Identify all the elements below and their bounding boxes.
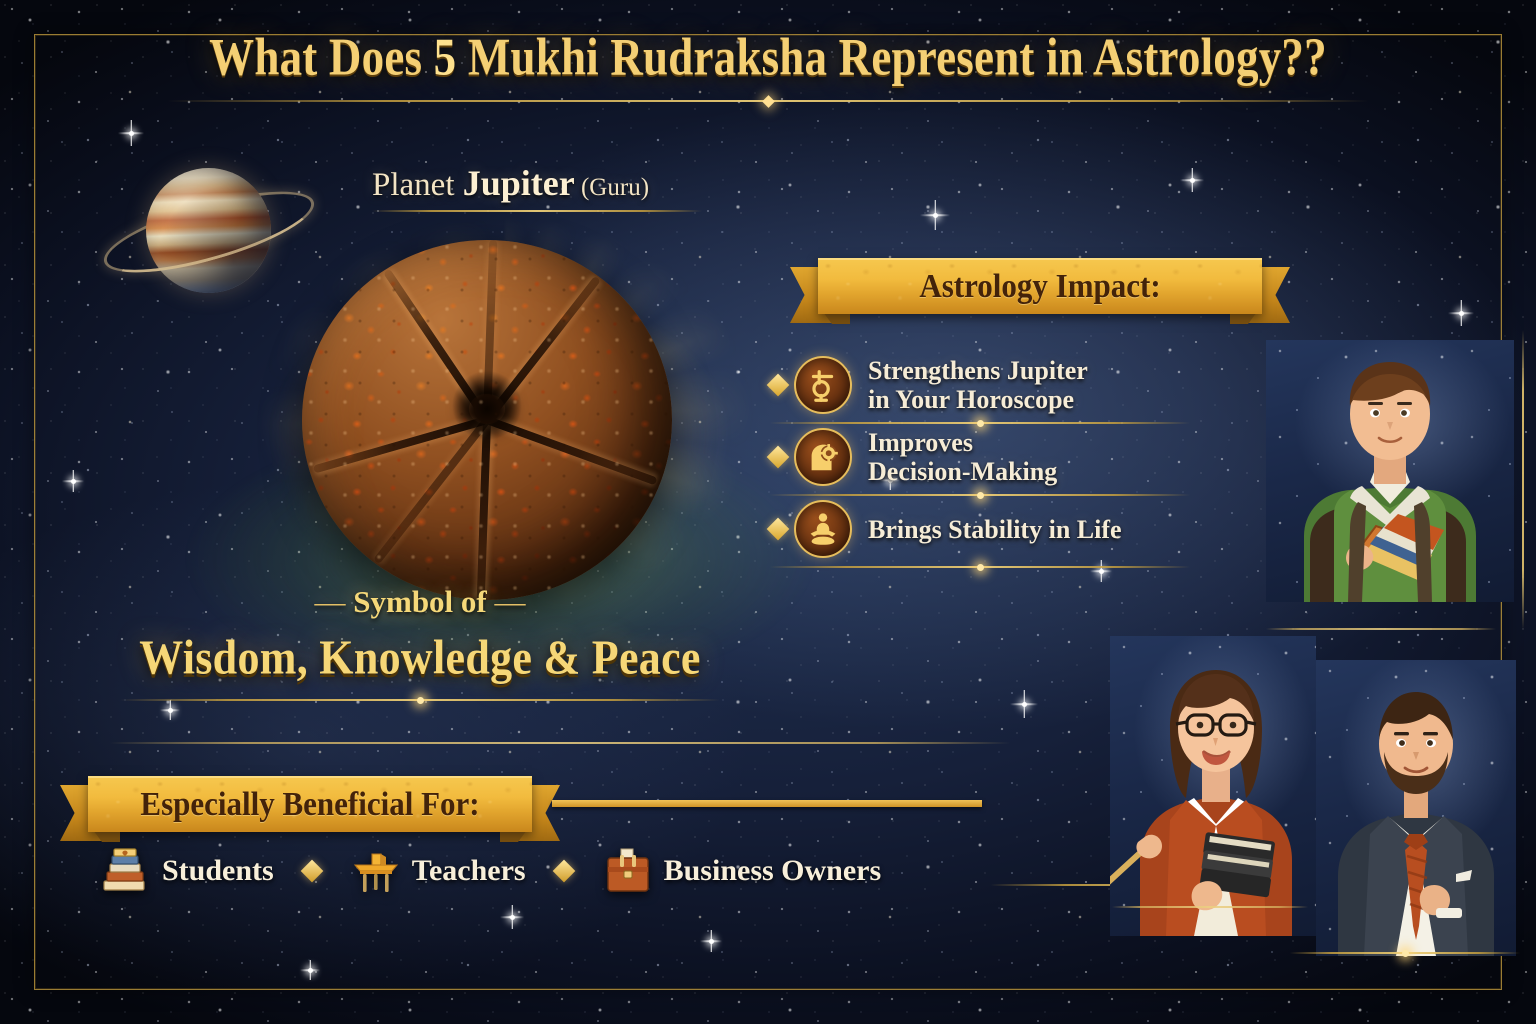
- infographic-canvas: What Does 5 Mukhi Rudraksha Represent in…: [0, 0, 1536, 1024]
- impact-item-line2: Decision-Making: [868, 457, 1057, 486]
- rudraksha-bead: [302, 240, 672, 600]
- star-sparkle: [700, 930, 722, 952]
- especially-beneficial-banner: Especially Beneficial For:: [60, 776, 560, 832]
- bullet-diamond-icon: [767, 446, 790, 469]
- head-gear-icon: [794, 428, 852, 486]
- title-middle: Mukhi Rudraksha Represent in Astrology?: [456, 27, 1304, 86]
- symbol-dash-left: —: [315, 584, 346, 619]
- symbol-divider: [120, 699, 720, 701]
- beneficiary-label: Teachers: [412, 854, 526, 888]
- separator-diamond-icon: [552, 860, 575, 883]
- teachers-photo: Teachers: [1110, 636, 1316, 936]
- planet-label-prefix: Planet: [372, 167, 463, 203]
- especially-beneficial-banner-label: Especially Beneficial For:: [140, 784, 479, 824]
- beneficiary-business-owners[interactable]: Business Owners: [602, 845, 882, 897]
- beneficiary-teachers[interactable]: Teachers: [350, 845, 526, 897]
- star-sparkle: [1448, 300, 1474, 326]
- impact-item-strengthens-jupiter[interactable]: Strengthens Jupiter in Your Horoscope: [770, 352, 1190, 418]
- symbol-of-block: — Symbol of — Wisdom, Knowledge & Peace: [80, 584, 760, 701]
- bullet-diamond-icon: [767, 518, 790, 541]
- star-sparkle: [920, 200, 950, 230]
- star-sparkle: [1180, 168, 1204, 192]
- business-owners-label-underline: [1290, 952, 1520, 954]
- page-title: What Does 5 Mukhi Rudraksha Represent in…: [0, 26, 1536, 78]
- star-sparkle: [1010, 690, 1038, 718]
- star-sparkle: [62, 470, 84, 492]
- briefcase-icon: [602, 845, 654, 897]
- title-number: 5: [434, 27, 457, 86]
- impact-item-brings-stability[interactable]: Brings Stability in Life: [770, 496, 1190, 562]
- stacked-books-icon: [100, 845, 152, 897]
- jupiter-glyph-icon: [794, 356, 852, 414]
- astrology-impact-banner-label: Astrology Impact:: [919, 266, 1160, 306]
- astrology-impact-list: Strengthens Jupiter in Your Horoscope: [770, 352, 1190, 568]
- beneficiary-list: Students Teachers: [100, 845, 1000, 897]
- symbol-main-text: Wisdom, Knowledge & Peace: [80, 629, 760, 685]
- star-sparkle: [118, 120, 144, 146]
- astrology-impact-banner: Astrology Impact:: [790, 258, 1290, 314]
- teachers-label-underline: [1112, 906, 1308, 908]
- separator-diamond-icon: [300, 860, 323, 883]
- meditating-person-icon: [794, 500, 852, 558]
- business-owner-illustration: [1316, 660, 1516, 956]
- title-suffix: ?: [1304, 27, 1327, 86]
- student-illustration: [1266, 340, 1514, 602]
- students-label-underline: [1266, 628, 1496, 630]
- impact-divider: [770, 566, 1190, 568]
- impact-item-line1: Improves: [868, 428, 973, 457]
- bullet-diamond-icon: [767, 374, 790, 397]
- impact-item-improves-decision-making[interactable]: Improves Decision-Making: [770, 424, 1190, 490]
- school-desk-icon: [350, 845, 402, 897]
- title-prefix: What Does: [209, 27, 434, 86]
- star-sparkle: [500, 905, 524, 929]
- planet-label-paren: (Guru): [575, 174, 649, 201]
- impact-item-line1: Strengthens Jupiter: [868, 356, 1088, 385]
- right-column-divider: [1522, 330, 1524, 630]
- teacher-illustration: [1110, 636, 1316, 936]
- students-photo: Students: [1266, 340, 1514, 602]
- impact-item-line1: Brings Stability in Life: [868, 515, 1122, 544]
- symbol-dash-right: —: [495, 584, 526, 619]
- beneficiary-label: Students: [162, 854, 274, 888]
- symbol-top-text: Symbol of: [353, 584, 487, 619]
- beneficiary-students[interactable]: Students: [100, 845, 274, 897]
- section-divider: [110, 742, 1010, 744]
- beneficiary-label: Business Owners: [664, 854, 882, 888]
- impact-item-line2: in Your Horoscope: [868, 385, 1074, 414]
- star-sparkle: [300, 960, 320, 980]
- title-divider: [168, 100, 1368, 102]
- business-owners-photo: Business Owners: [1316, 660, 1516, 956]
- banner-trailing-line: [552, 800, 982, 807]
- planet-label-main: Jupiter: [463, 163, 575, 203]
